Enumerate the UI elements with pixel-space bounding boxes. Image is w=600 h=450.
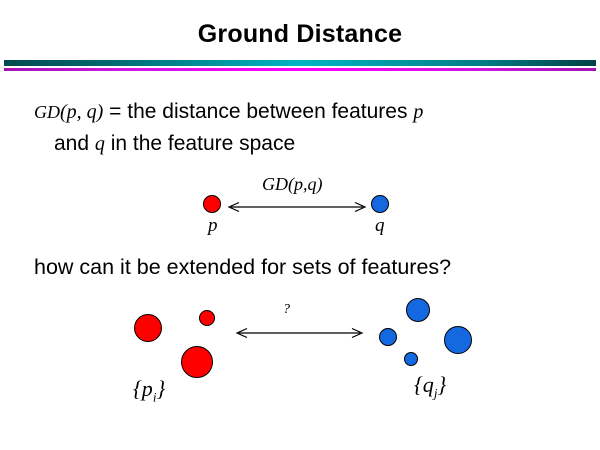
equals-sign: = <box>103 100 127 123</box>
red-dot-2 <box>199 310 215 326</box>
definition-line2-suffix: in the feature space <box>105 132 295 155</box>
slide-canvas: Ground Distance GD(p, q) = the distance … <box>0 0 600 450</box>
blue-set-label: {qj} <box>414 374 446 404</box>
page-title: Ground Distance <box>0 19 600 49</box>
definition-line-1: GD(p, q) = the distance between features… <box>34 98 423 126</box>
definition-line2-prefix: and <box>54 132 95 155</box>
blue-dot-3 <box>444 326 472 354</box>
definition-phrase: the distance between features <box>127 100 413 123</box>
open-paren: ( <box>60 101 67 123</box>
blue-set-open: {q <box>414 372 434 397</box>
unknown-distance-label: ? <box>283 302 290 318</box>
blue-dot-2 <box>379 328 397 346</box>
feature-dot-p <box>203 195 221 213</box>
question-text: how can it be extended for sets of featu… <box>34 254 451 281</box>
blue-dot-4 <box>404 352 418 366</box>
var-q: q <box>95 133 105 155</box>
arg-p: p <box>67 101 77 123</box>
feature-label-q: q <box>375 216 385 235</box>
divider-magenta-line <box>4 68 596 71</box>
arg-comma: , <box>77 101 87 123</box>
red-dot-3 <box>181 346 213 378</box>
divider <box>4 60 596 72</box>
red-set-open: {p <box>133 376 153 401</box>
trailing-var-p: p <box>413 101 423 123</box>
divider-teal-bar <box>4 60 596 66</box>
red-set-close: } <box>156 376 165 401</box>
red-dot-1 <box>134 314 162 342</box>
feature-dot-q <box>371 195 389 213</box>
distance-arrow-single <box>225 198 370 218</box>
feature-label-p: p <box>208 216 218 235</box>
gd-symbol: GD <box>34 102 60 122</box>
definition-line-2: and q in the feature space <box>54 130 295 158</box>
arg-q: q <box>87 101 97 123</box>
gd-arrow-label: GD(p,q) <box>262 174 323 195</box>
distance-arrow-sets <box>233 324 367 344</box>
red-set-label: {pi} <box>133 378 165 408</box>
blue-set-close: } <box>437 372 446 397</box>
blue-dot-1 <box>406 298 430 322</box>
